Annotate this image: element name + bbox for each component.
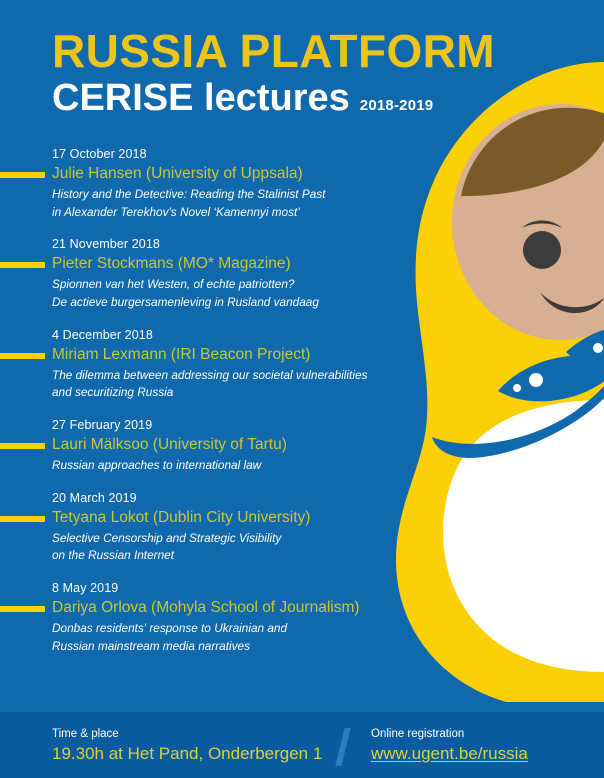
list-item: 8 May 2019 Dariya Orlova (Mohyla School … [0, 580, 400, 654]
list-item: 20 March 2019 Tetyana Lokot (Dublin City… [0, 490, 400, 564]
subtitle-row: CERISE lectures 2018-2019 [52, 79, 495, 117]
registration-link[interactable]: www.ugent.be/russia [371, 743, 528, 766]
speaker-row: Dariya Orlova (Mohyla School of Journali… [0, 598, 400, 619]
lecture-topic-line1: Spionnen van het Westen, of echte patrio… [52, 276, 400, 293]
footer-time-place-block: Time & place 19.30h at Het Pand, Onderbe… [52, 727, 322, 766]
petal-dot-small [513, 384, 521, 392]
list-item: 17 October 2018 Julie Hansen (University… [0, 146, 400, 220]
doll-smile [540, 292, 604, 313]
bullet-dash-icon [0, 353, 45, 359]
slash-divider-icon [335, 728, 350, 766]
season-years: 2018-2019 [360, 97, 434, 114]
lecture-topic-line1: Russian approaches to international law [52, 457, 400, 474]
doll-petal-right [566, 330, 604, 372]
lecture-speaker: Miriam Lexmann (IRI Beacon Project) [52, 345, 400, 365]
bullet-dash-icon [0, 443, 45, 449]
lecture-date: 17 October 2018 [52, 146, 400, 163]
lecture-speaker: Pieter Stockmans (MO* Magazine) [52, 254, 400, 274]
lecture-speaker: Lauri Mälksoo (University of Tartu) [52, 435, 400, 455]
time-place-value: 19.30h at Het Pand, Onderbergen 1 [52, 743, 322, 766]
doll-hair [461, 108, 604, 196]
lecture-topic-line2: on the Russian Internet [52, 547, 400, 564]
poster-footer: Time & place 19.30h at Het Pand, Onderbe… [0, 712, 604, 778]
lecture-topic-line1: The dilemma between addressing our socie… [52, 367, 400, 384]
lecture-topic-line2: in Alexander Terekhov's Novel ‘Kamennyi … [52, 204, 400, 221]
lecture-speaker: Dariya Orlova (Mohyla School of Journali… [52, 598, 400, 618]
speaker-row: Julie Hansen (University of Uppsala) [0, 164, 400, 185]
doll-petal-left [498, 356, 604, 402]
doll-face [452, 104, 604, 340]
lecture-topic-line2: Russian mainstream media narratives [52, 638, 400, 655]
lecture-date: 21 November 2018 [52, 236, 400, 253]
lecture-date: 27 February 2019 [52, 417, 400, 434]
bullet-dash-icon [0, 606, 45, 612]
lecture-list: 17 October 2018 Julie Hansen (University… [0, 146, 400, 671]
poster-root: RUSSIA PLATFORM CERISE lectures 2018-201… [0, 0, 604, 778]
page-subtitle: CERISE lectures [52, 79, 350, 117]
lecture-topic-line2: De actieve burgersamenleving in Rusland … [52, 294, 400, 311]
petal-dot-large [529, 373, 543, 387]
speaker-row: Pieter Stockmans (MO* Magazine) [0, 254, 400, 275]
speaker-row: Miriam Lexmann (IRI Beacon Project) [0, 345, 400, 366]
speaker-row: Lauri Mälksoo (University of Tartu) [0, 435, 400, 456]
lecture-speaker: Julie Hansen (University of Uppsala) [52, 164, 400, 184]
list-item: 27 February 2019 Lauri Mälksoo (Universi… [0, 417, 400, 474]
bullet-dash-icon [0, 516, 45, 522]
petal-dot-right [593, 343, 603, 353]
lecture-topic-line1: Selective Censorship and Strategic Visib… [52, 530, 400, 547]
headscarf-shape [396, 62, 604, 702]
lecture-date: 4 December 2018 [52, 327, 400, 344]
lecture-topic-line2: and securitizing Russia [52, 384, 400, 401]
lecture-topic-line1: History and the Detective: Reading the S… [52, 186, 400, 203]
page-title: RUSSIA PLATFORM [52, 28, 495, 75]
bullet-dash-icon [0, 172, 45, 178]
bullet-dash-icon [0, 262, 45, 268]
speaker-row: Tetyana Lokot (Dublin City University) [0, 508, 400, 529]
lecture-date: 20 March 2019 [52, 490, 400, 507]
lecture-speaker: Tetyana Lokot (Dublin City University) [52, 508, 400, 528]
time-place-label: Time & place [52, 727, 322, 742]
registration-label: Online registration [371, 727, 528, 742]
list-item: 4 December 2018 Miriam Lexmann (IRI Beac… [0, 327, 400, 401]
doll-body-white [443, 400, 604, 672]
poster-header: RUSSIA PLATFORM CERISE lectures 2018-201… [52, 28, 495, 117]
lecture-topic-line1: Donbas residents' response to Ukrainian … [52, 620, 400, 637]
list-item: 21 November 2018 Pieter Stockmans (MO* M… [0, 236, 400, 310]
doll-eyebrow [522, 221, 562, 229]
doll-eye [523, 231, 561, 269]
footer-registration-block: Online registration www.ugent.be/russia [371, 727, 528, 766]
lecture-date: 8 May 2019 [52, 580, 400, 597]
doll-skirt-stroke [432, 386, 604, 458]
